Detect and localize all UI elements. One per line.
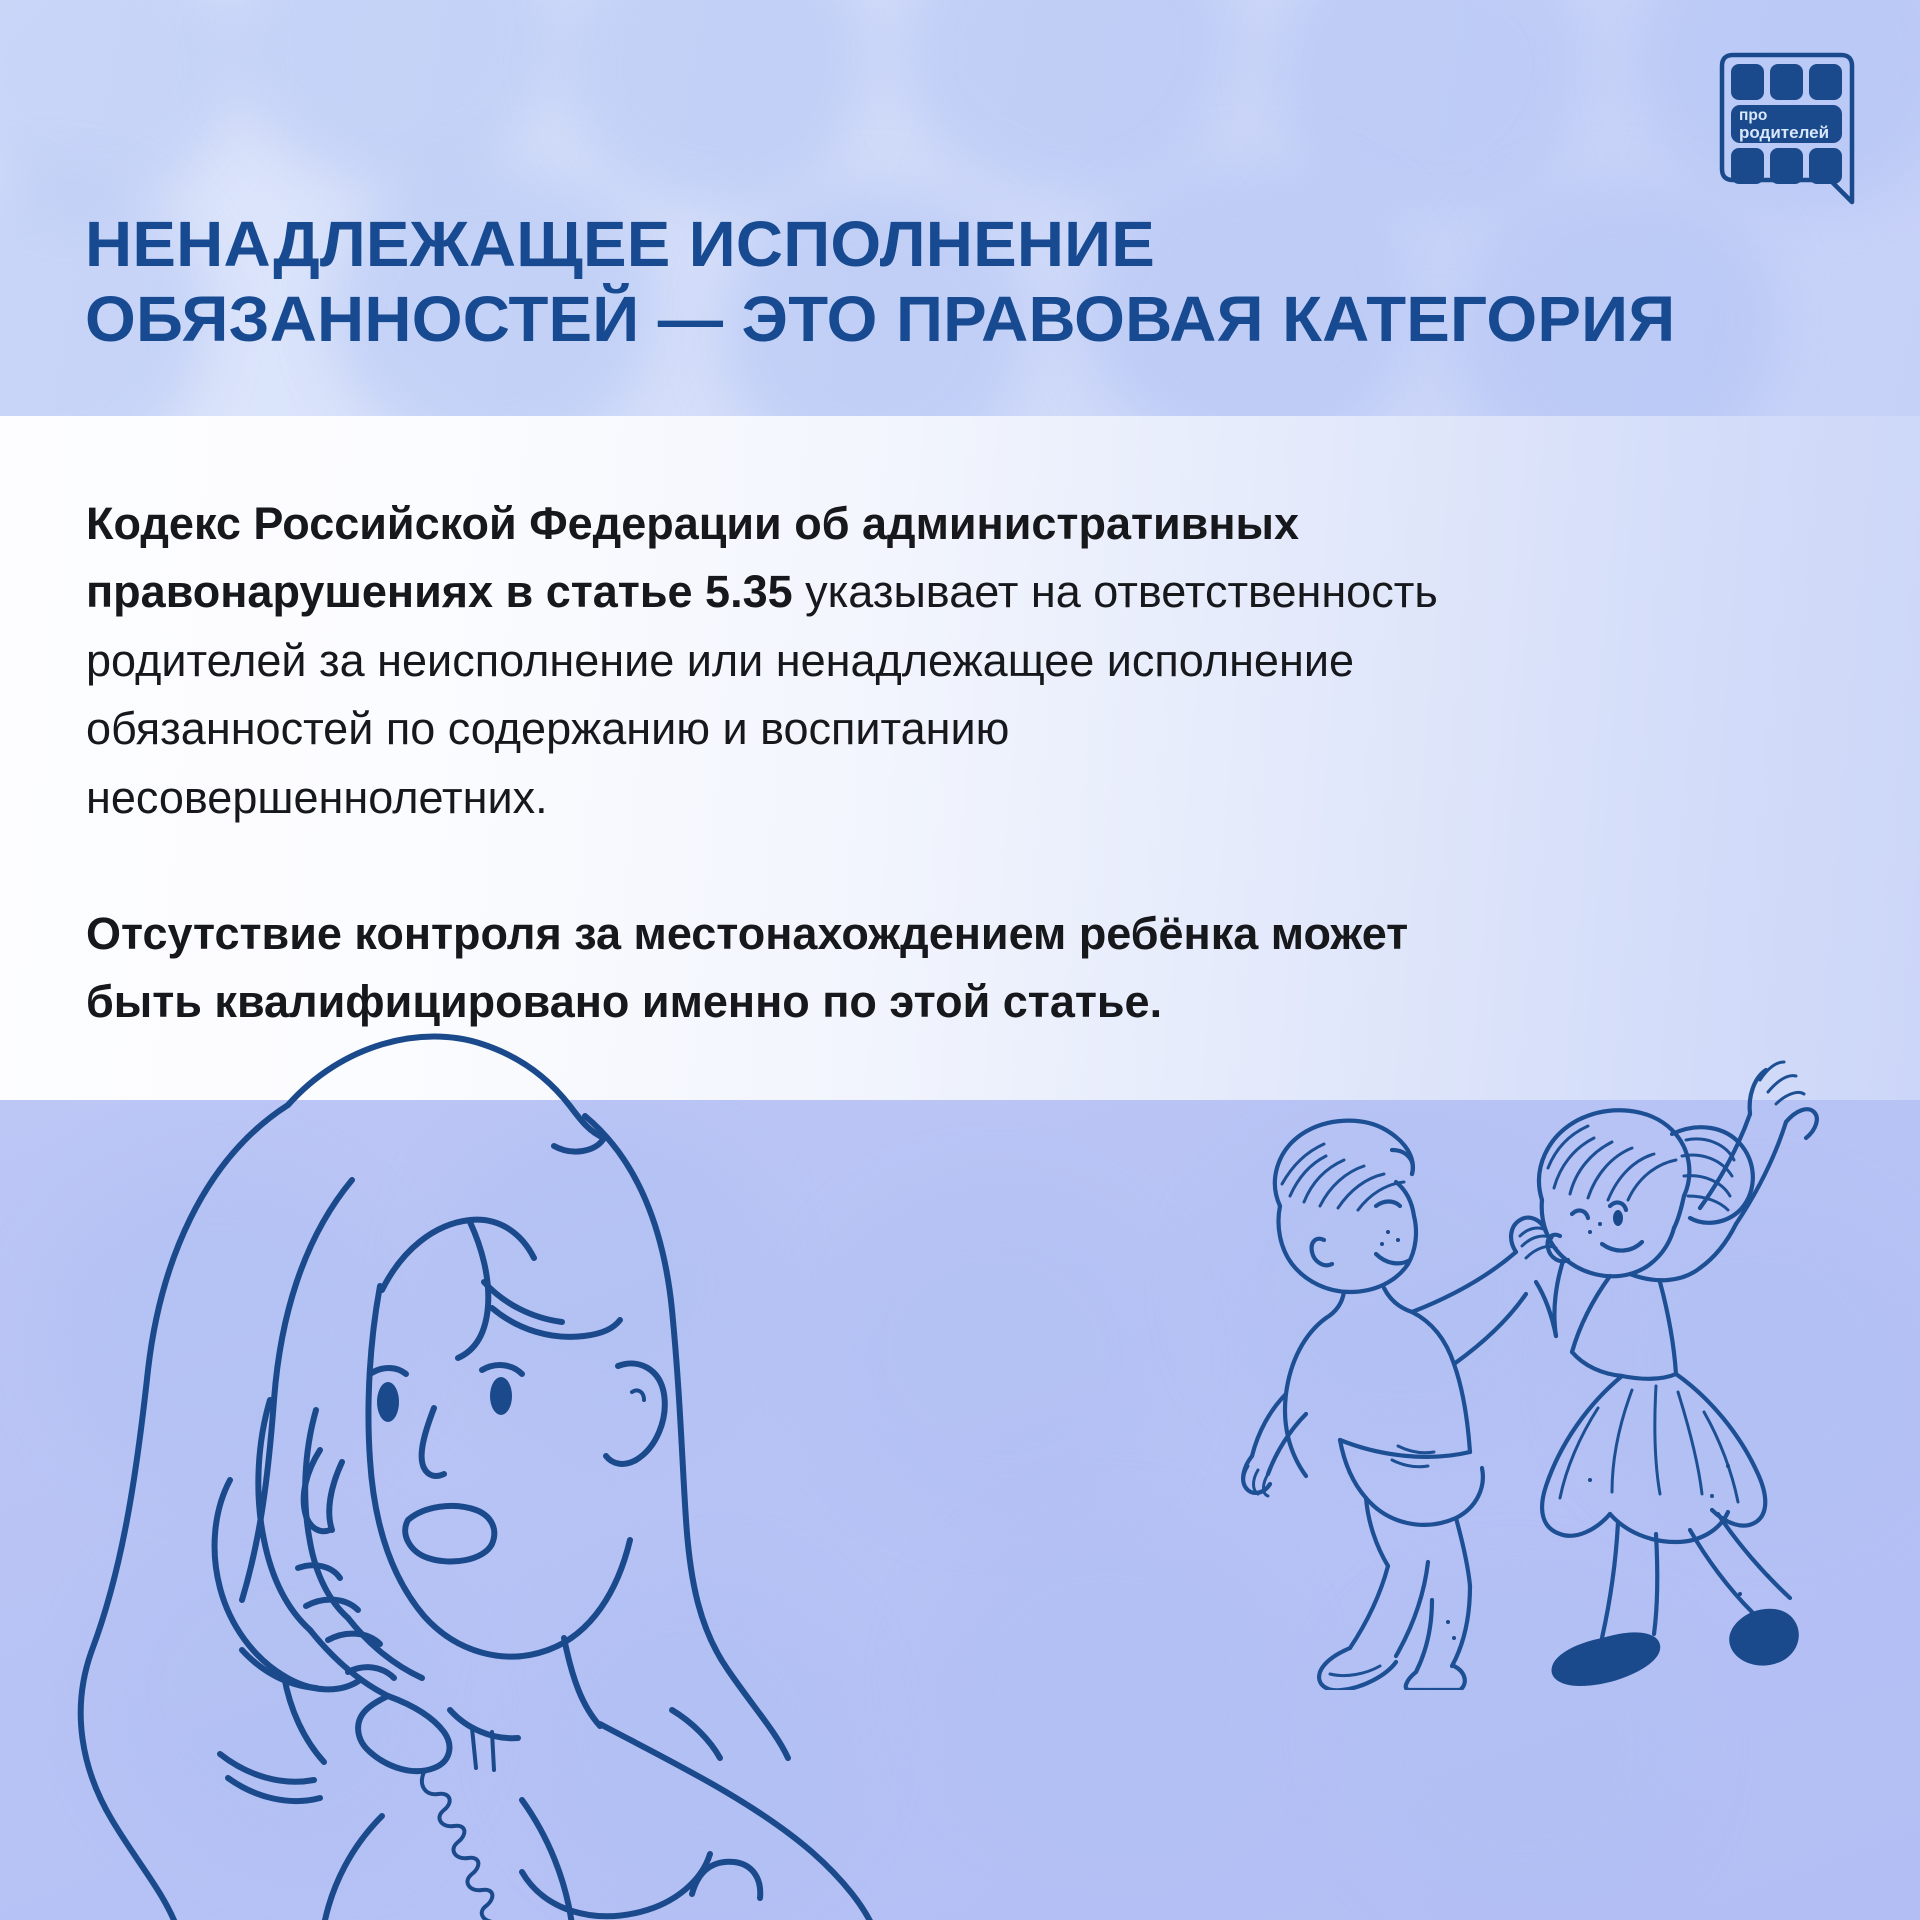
paragraph-1-line-5: несовершеннолетних. xyxy=(86,764,1806,832)
text-bold-segment: правонарушениях в статье 5.35 xyxy=(86,566,793,617)
poster-canvas: про родителей НЕНАДЛЕЖАЩЕЕ ИСПОЛНЕНИЕ ОБ… xyxy=(0,0,1920,1920)
logo-tile xyxy=(1731,64,1764,100)
girl-figure xyxy=(1536,1062,1817,1686)
paragraph-2-line-1: Отсутствие контроля за местонахождением … xyxy=(86,900,1806,968)
title-line-1: НЕНАДЛЕЖАЩЕЕ ИСПОЛНЕНИЕ xyxy=(85,207,1880,282)
logo-tile xyxy=(1809,64,1842,100)
woman-face xyxy=(368,1220,664,1657)
woman-on-landline-phone-illustration xyxy=(52,1010,892,1920)
two-children-dancing-illustration xyxy=(1220,1010,1880,1690)
logo-tile xyxy=(1770,148,1803,184)
pro-roditeley-logo[interactable]: про родителей xyxy=(1712,50,1862,215)
paragraph-1-line-3: родителей за неисполнение или ненадлежащ… xyxy=(86,627,1806,695)
girl-shoe-right xyxy=(1729,1609,1799,1666)
paragraph-spacer xyxy=(86,832,1806,900)
woman-body xyxy=(324,1638,872,1920)
title-line-2: ОБЯЗАННОСТЕЙ — ЭТО ПРАВОВАЯ КАТЕГОРИЯ xyxy=(85,282,1880,357)
logo-tile xyxy=(1809,148,1842,184)
paragraph-1-line-2: правонарушениях в статье 5.35 указывает … xyxy=(86,558,1806,626)
text-bold-segment: Кодекс Российской Федерации об администр… xyxy=(86,498,1299,549)
page-title: НЕНАДЛЕЖАЩЕЕ ИСПОЛНЕНИЕ ОБЯЗАННОСТЕЙ — Э… xyxy=(85,207,1880,357)
body-copy: Кодекс Российской Федерации об администр… xyxy=(86,490,1806,1037)
logo-tile xyxy=(1770,64,1803,100)
logo-text-line2: родителей xyxy=(1739,123,1829,142)
text-regular-segment: указывает на ответственность xyxy=(793,566,1438,617)
logo-tile xyxy=(1731,148,1764,184)
eye-right xyxy=(490,1377,512,1415)
paragraph-1-line-1: Кодекс Российской Федерации об администр… xyxy=(86,490,1806,558)
paragraph-1-line-4: обязанностей по содержанию и воспитанию xyxy=(86,695,1806,763)
phone-cord xyxy=(422,1772,492,1920)
background-blob xyxy=(560,0,870,210)
logo-text-line1: про xyxy=(1739,107,1767,124)
paragraph-1: Кодекс Российской Федерации об администр… xyxy=(86,490,1806,832)
boy-figure xyxy=(1243,1121,1556,1690)
girl-shoe-left xyxy=(1552,1632,1661,1686)
woman-necklace xyxy=(522,1854,710,1916)
eye-left xyxy=(377,1382,399,1422)
